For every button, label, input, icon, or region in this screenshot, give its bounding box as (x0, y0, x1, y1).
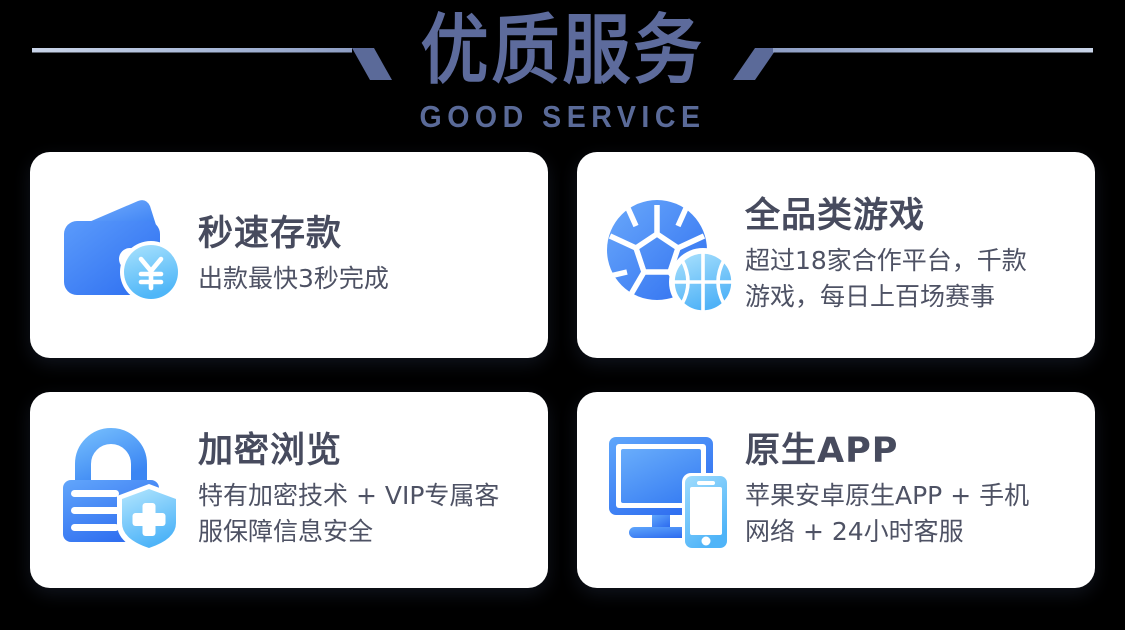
header-title-wrap: 优质服务 (0, 8, 1125, 86)
feature-card-games[interactable]: 全品类游戏 超过18家合作平台，千款 游戏，每日上百场赛事 (577, 152, 1095, 358)
card-title: 加密浏览 (198, 430, 530, 472)
card-title: 原生APP (745, 430, 1077, 472)
page-subtitle: GOOD SERVICE (45, 100, 1080, 134)
feature-card-native-app[interactable]: 原生APP 苹果安卓原生APP + 手机 网络 + 24小时客服 (577, 392, 1095, 588)
page-root: 优质服务 GOOD SERVICE (0, 0, 1125, 630)
card-title: 全品类游戏 (745, 195, 1077, 237)
page-header: 优质服务 GOOD SERVICE (0, 0, 1125, 146)
page-title: 优质服务 (420, 8, 704, 95)
card-text-games: 全品类游戏 超过18家合作平台，千款 游戏，每日上百场赛事 (741, 195, 1095, 315)
card-description: 苹果安卓原生APP + 手机 网络 + 24小时客服 (745, 478, 1075, 550)
card-desc-line: 苹果安卓原生APP + 手机 (745, 478, 1075, 514)
card-desc-line: 超过18家合作平台，千款 (745, 243, 1075, 279)
card-text-encryption: 加密浏览 特有加密技术 + VIP专属客 服保障信息安全 (194, 430, 548, 550)
card-desc-line: 出款最快3秒完成 (198, 261, 530, 297)
card-desc-line: 服保障信息安全 (198, 514, 528, 550)
card-desc-line: 网络 + 24小时客服 (745, 514, 1075, 550)
lock-shield-icon (54, 420, 194, 560)
soccer-basketball-icon (601, 185, 741, 325)
feature-card-grid: 秒速存款 出款最快3秒完成 (30, 152, 1095, 592)
feature-card-encryption[interactable]: 加密浏览 特有加密技术 + VIP专属客 服保障信息安全 (30, 392, 548, 588)
feature-card-deposit[interactable]: 秒速存款 出款最快3秒完成 (30, 152, 548, 358)
card-description: 特有加密技术 + VIP专属客 服保障信息安全 (198, 478, 528, 550)
card-desc-line: 特有加密技术 + VIP专属客 (198, 478, 528, 514)
card-description: 出款最快3秒完成 (198, 261, 530, 297)
card-description: 超过18家合作平台，千款 游戏，每日上百场赛事 (745, 243, 1075, 315)
wallet-yen-icon (54, 185, 194, 325)
card-title: 秒速存款 (198, 213, 530, 255)
card-desc-line: 游戏，每日上百场赛事 (745, 279, 1075, 315)
card-text-deposit: 秒速存款 出款最快3秒完成 (194, 213, 548, 297)
monitor-phone-icon (601, 420, 741, 560)
card-text-native-app: 原生APP 苹果安卓原生APP + 手机 网络 + 24小时客服 (741, 430, 1095, 550)
